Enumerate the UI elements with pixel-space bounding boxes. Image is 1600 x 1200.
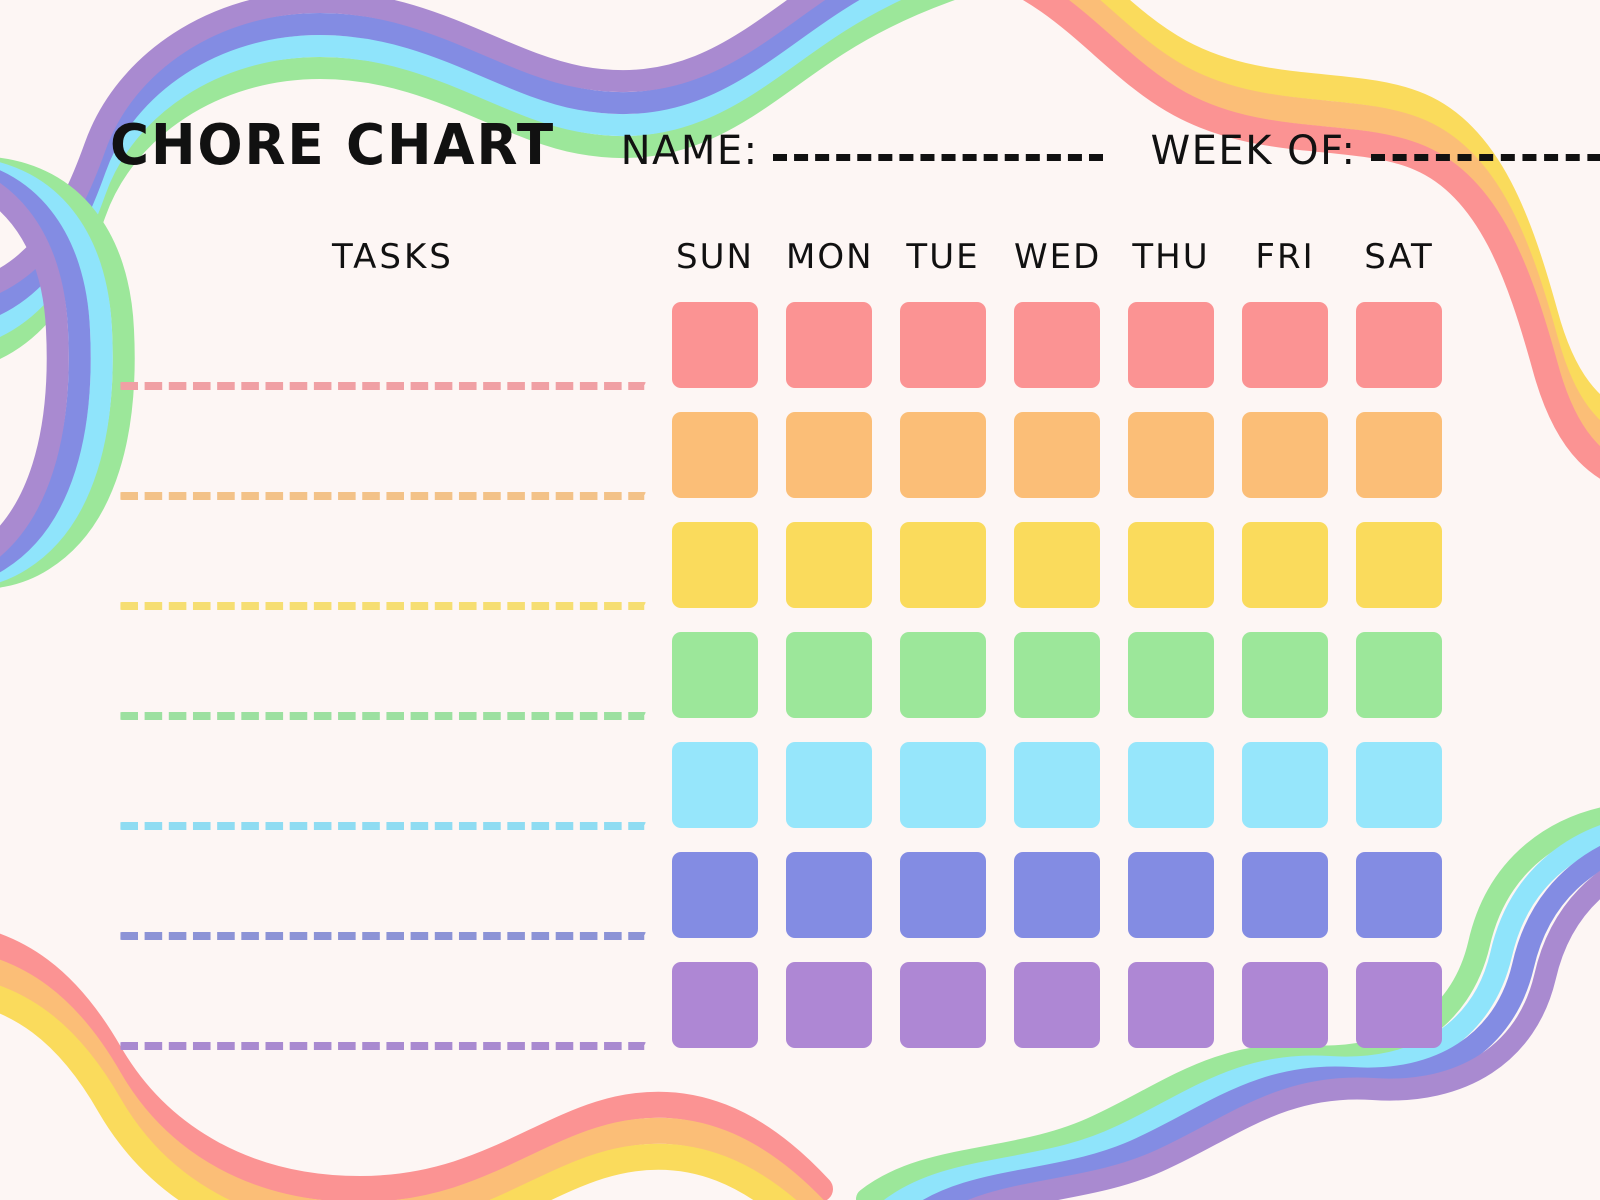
- chore-checkbox-wed[interactable]: [1014, 632, 1100, 718]
- chore-checkbox-sat[interactable]: [1356, 962, 1442, 1048]
- chore-checkbox-sat[interactable]: [1356, 522, 1442, 608]
- name-label: NAME:: [621, 131, 759, 171]
- chore-chart-page: CHORE CHART NAME: WEEK OF: TASKS SUNMONT…: [0, 0, 1600, 1200]
- chore-checkbox-sat[interactable]: [1356, 852, 1442, 938]
- chore-row: [110, 844, 1490, 954]
- name-field: NAME:: [621, 131, 1103, 171]
- chore-checkbox-wed[interactable]: [1014, 962, 1100, 1048]
- chore-row: [110, 404, 1490, 514]
- chore-checkbox-sun[interactable]: [672, 632, 758, 718]
- chore-checkbox-mon[interactable]: [786, 742, 872, 828]
- chore-checkbox-sat[interactable]: [1356, 742, 1442, 828]
- chore-checkbox-sat[interactable]: [1356, 302, 1442, 388]
- chore-checkbox-sat[interactable]: [1356, 412, 1442, 498]
- chore-checkbox-thu[interactable]: [1128, 522, 1214, 608]
- task-input-line[interactable]: [118, 602, 648, 610]
- task-input-line[interactable]: [118, 932, 648, 940]
- chore-checkbox-thu[interactable]: [1128, 742, 1214, 828]
- chore-checkbox-sun[interactable]: [672, 962, 758, 1048]
- chore-checkbox-tue[interactable]: [900, 852, 986, 938]
- chore-checkbox-sun[interactable]: [672, 742, 758, 828]
- chore-checkbox-tue[interactable]: [900, 742, 986, 828]
- task-input-line[interactable]: [118, 382, 648, 390]
- chore-checkbox-fri[interactable]: [1242, 632, 1328, 718]
- chore-checkbox-wed[interactable]: [1014, 852, 1100, 938]
- chore-checkbox-wed[interactable]: [1014, 522, 1100, 608]
- chore-checkbox-mon[interactable]: [786, 962, 872, 1048]
- task-input-line[interactable]: [118, 712, 648, 720]
- chore-checkbox-mon[interactable]: [786, 412, 872, 498]
- day-column-header-sun: SUN: [672, 240, 758, 274]
- day-column-header-wed: WED: [1014, 240, 1100, 274]
- chore-checkbox-thu[interactable]: [1128, 852, 1214, 938]
- chore-row: [110, 624, 1490, 734]
- day-column-header-tue: TUE: [900, 240, 986, 274]
- chore-row: [110, 954, 1490, 1064]
- week-of-input[interactable]: [1371, 154, 1600, 161]
- chore-checkbox-sun[interactable]: [672, 412, 758, 498]
- chore-checkbox-fri[interactable]: [1242, 742, 1328, 828]
- chore-checkbox-thu[interactable]: [1128, 412, 1214, 498]
- chore-checkbox-tue[interactable]: [900, 522, 986, 608]
- chore-row: [110, 514, 1490, 624]
- chore-checkbox-sun[interactable]: [672, 852, 758, 938]
- chore-checkbox-wed[interactable]: [1014, 412, 1100, 498]
- column-headers: TASKS SUNMONTUEWEDTHUFRISAT: [110, 240, 1490, 284]
- chart-header: CHORE CHART NAME: WEEK OF:: [110, 118, 1490, 190]
- chore-checkbox-mon[interactable]: [786, 302, 872, 388]
- chore-checkbox-thu[interactable]: [1128, 302, 1214, 388]
- chore-checkbox-sun[interactable]: [672, 522, 758, 608]
- chore-row: [110, 734, 1490, 844]
- day-column-header-sat: SAT: [1356, 240, 1442, 274]
- chore-checkbox-tue[interactable]: [900, 962, 986, 1048]
- chore-checkbox-mon[interactable]: [786, 522, 872, 608]
- chore-checkbox-mon[interactable]: [786, 852, 872, 938]
- chore-grid: [110, 294, 1490, 1064]
- week-of-field: WEEK OF:: [1151, 131, 1600, 171]
- chore-checkbox-wed[interactable]: [1014, 742, 1100, 828]
- chore-checkbox-thu[interactable]: [1128, 632, 1214, 718]
- tasks-column-header: TASKS: [332, 240, 454, 274]
- task-input-line[interactable]: [118, 492, 648, 500]
- chore-checkbox-tue[interactable]: [900, 412, 986, 498]
- chore-row: [110, 294, 1490, 404]
- chore-checkbox-thu[interactable]: [1128, 962, 1214, 1048]
- chore-checkbox-tue[interactable]: [900, 632, 986, 718]
- chore-checkbox-fri[interactable]: [1242, 852, 1328, 938]
- chore-checkbox-sat[interactable]: [1356, 632, 1442, 718]
- chore-checkbox-wed[interactable]: [1014, 302, 1100, 388]
- task-input-line[interactable]: [118, 822, 648, 830]
- chore-checkbox-fri[interactable]: [1242, 962, 1328, 1048]
- chore-checkbox-fri[interactable]: [1242, 522, 1328, 608]
- chore-checkbox-mon[interactable]: [786, 632, 872, 718]
- chore-checkbox-sun[interactable]: [672, 302, 758, 388]
- chore-checkbox-tue[interactable]: [900, 302, 986, 388]
- task-input-line[interactable]: [118, 1042, 648, 1050]
- week-of-label: WEEK OF:: [1151, 131, 1357, 171]
- day-column-header-thu: THU: [1128, 240, 1214, 274]
- name-input[interactable]: [773, 154, 1103, 161]
- chore-checkbox-fri[interactable]: [1242, 302, 1328, 388]
- chore-checkbox-fri[interactable]: [1242, 412, 1328, 498]
- rainbow-ribbon-left-loop: [0, 168, 124, 578]
- day-column-header-mon: MON: [786, 240, 872, 274]
- page-title: CHORE CHART: [110, 118, 555, 174]
- day-column-header-fri: FRI: [1242, 240, 1328, 274]
